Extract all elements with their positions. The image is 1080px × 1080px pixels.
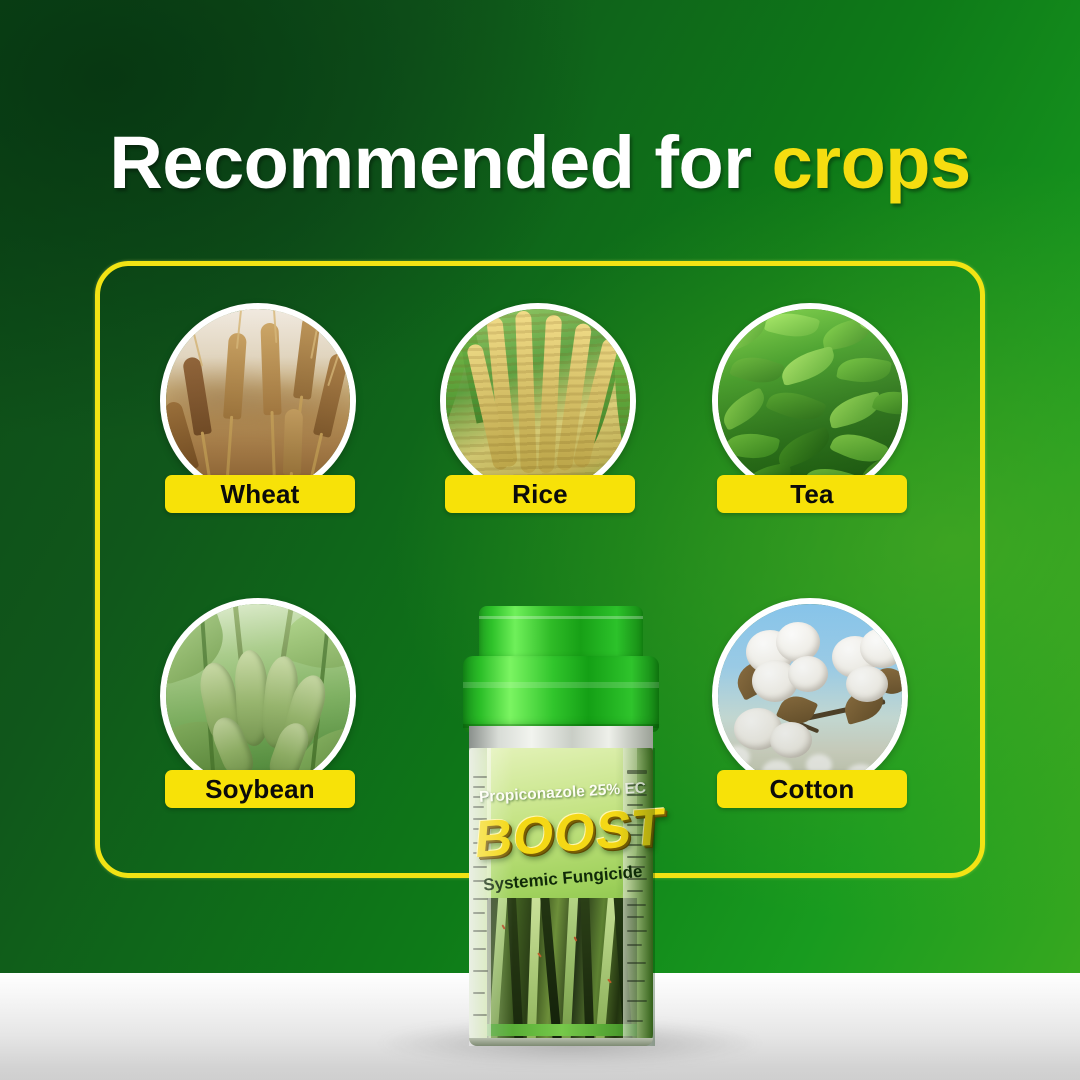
- crop-label-wheat: Wheat: [165, 475, 355, 513]
- page-title-highlight: crops: [772, 121, 971, 204]
- page-title-main: Recommended for: [109, 121, 771, 204]
- crop-card-tea[interactable]: Tea: [712, 303, 912, 513]
- crop-card-rice[interactable]: Rice: [440, 303, 640, 513]
- crop-image-soybean: [160, 598, 356, 794]
- crop-image-rice: [440, 303, 636, 499]
- crop-image-cotton: [712, 598, 908, 794]
- crop-card-soybean[interactable]: Soybean: [160, 598, 360, 808]
- poster-stage: Recommended for crops Wheat: [0, 0, 1080, 1080]
- crop-image-tea: [712, 303, 908, 499]
- crop-label-cotton: Cotton: [717, 770, 907, 808]
- crop-card-cotton[interactable]: Cotton: [712, 598, 912, 808]
- product-bottle[interactable]: Propiconazole 25% EC BOOST Systemic Fung…: [457, 606, 667, 1046]
- bottle-cap-lower: [463, 656, 659, 732]
- bottle-base-rim: [469, 1038, 653, 1046]
- crop-card-wheat[interactable]: Wheat: [160, 303, 360, 513]
- crop-label-tea: Tea: [717, 475, 907, 513]
- crop-label-rice: Rice: [445, 475, 635, 513]
- crop-label-soybean: Soybean: [165, 770, 355, 808]
- crop-image-wheat: [160, 303, 356, 499]
- bottle-cap-upper: [479, 606, 643, 662]
- page-title: Recommended for crops: [0, 126, 1080, 200]
